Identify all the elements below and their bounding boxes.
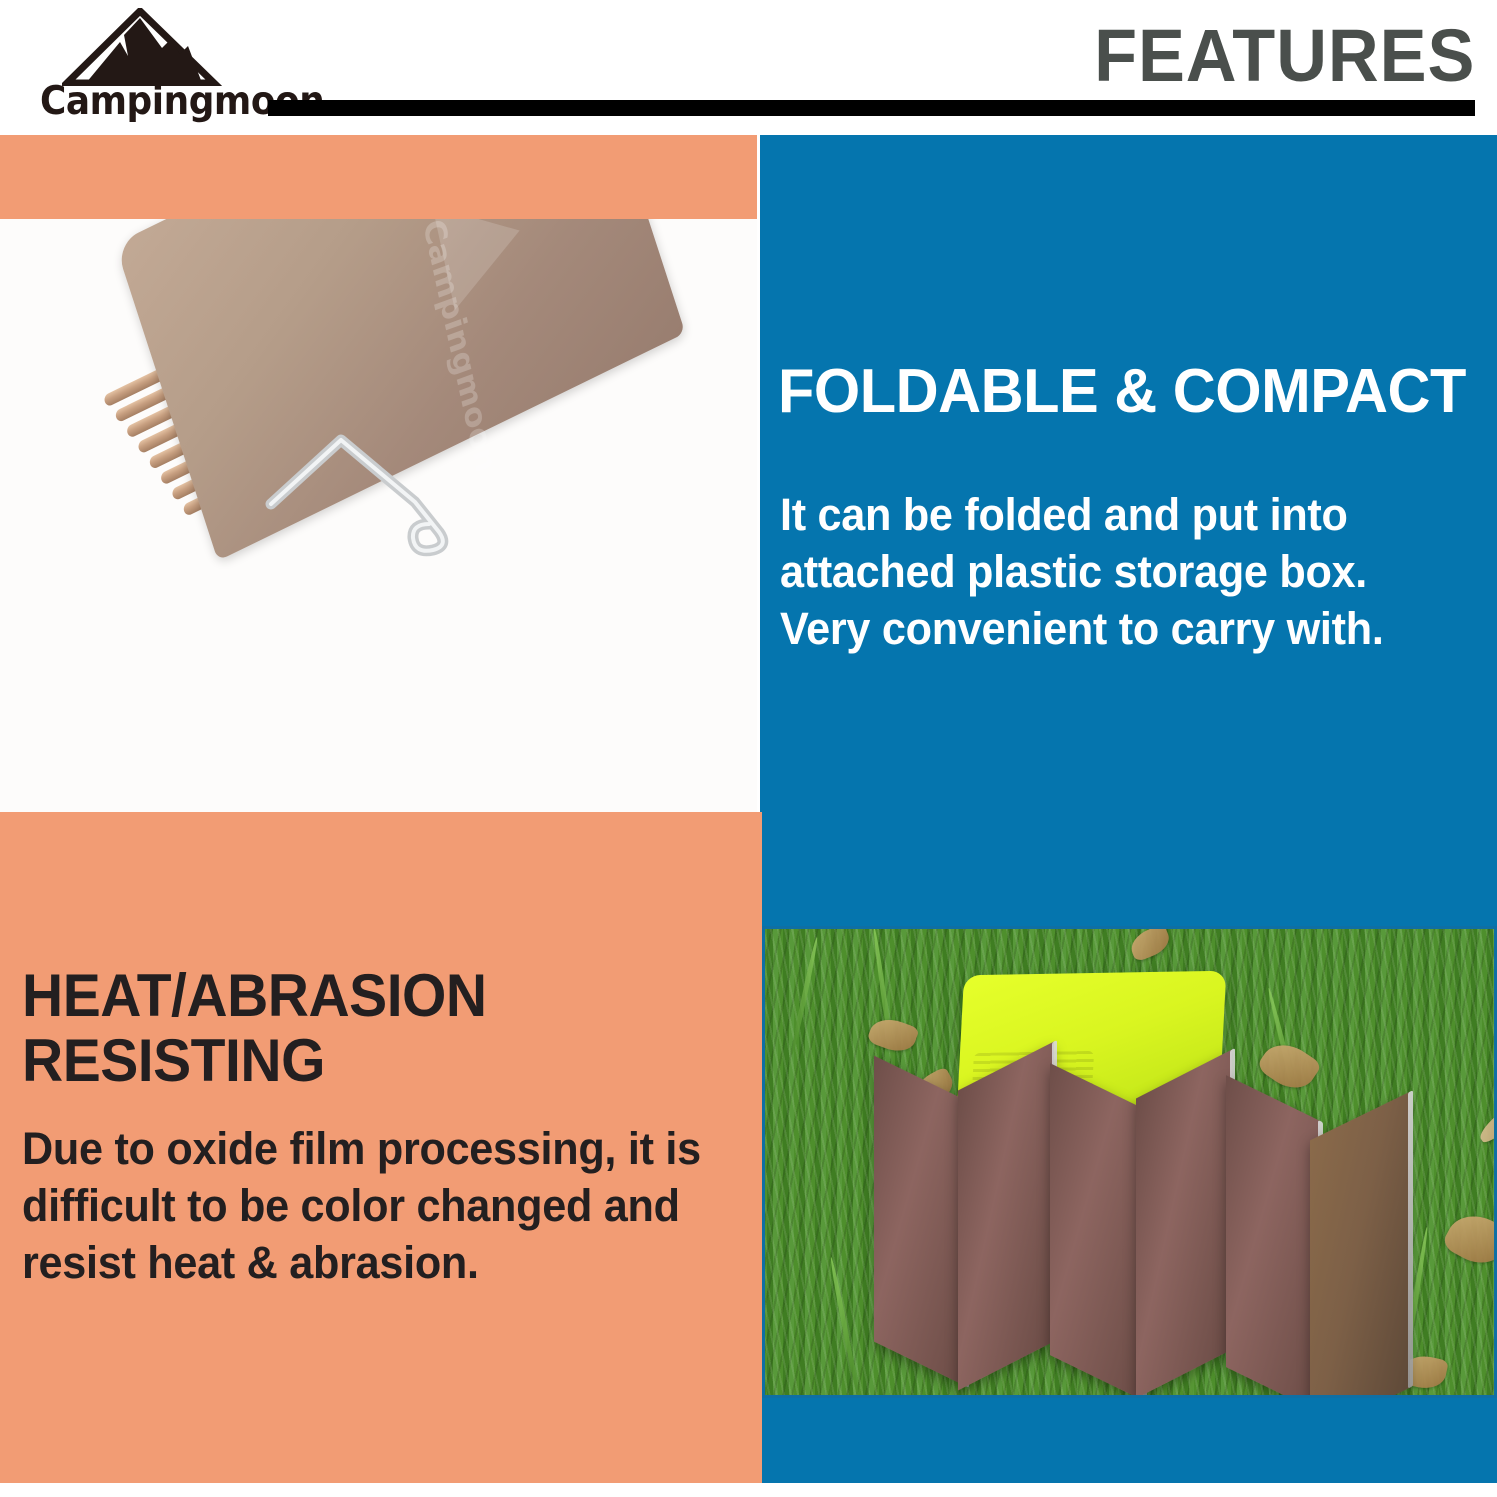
folded-windscreen-photo: Campingmoon <box>0 219 757 812</box>
product-folded: Campingmoon <box>95 224 757 784</box>
infographic-page: Campingmoon FEATURES <box>0 0 1497 1497</box>
feature-headline-heat: HEAT/ABRASION RESISTING <box>22 963 687 1093</box>
photo-border <box>762 926 1497 1398</box>
accent-strip-bottom-right <box>762 1398 1497 1483</box>
header-divider <box>268 100 1475 116</box>
feature-headline-heat-line2: RESISTING <box>22 1028 687 1093</box>
windscreen-on-grass-photo <box>762 926 1497 1398</box>
page-title: FEATURES <box>1094 16 1475 96</box>
feature-body-heat: Due to oxide film processing, it is diff… <box>22 1120 713 1291</box>
feature-headline-heat-line1: HEAT/ABRASION <box>22 963 687 1028</box>
brand-wordmark: Campingmoon <box>40 80 242 124</box>
accent-strip-top-left <box>0 135 757 219</box>
photo-background: Campingmoon <box>0 219 757 812</box>
feature-headline-foldable: FOLDABLE & COMPACT <box>778 357 1450 427</box>
mountain-logo-icon <box>62 8 222 86</box>
feature-body-foldable: It can be folded and put into attached p… <box>780 486 1442 657</box>
wire-hook <box>263 424 463 559</box>
brand-logo: Campingmoon <box>40 8 260 128</box>
page-header: Campingmoon FEATURES <box>0 0 1497 135</box>
